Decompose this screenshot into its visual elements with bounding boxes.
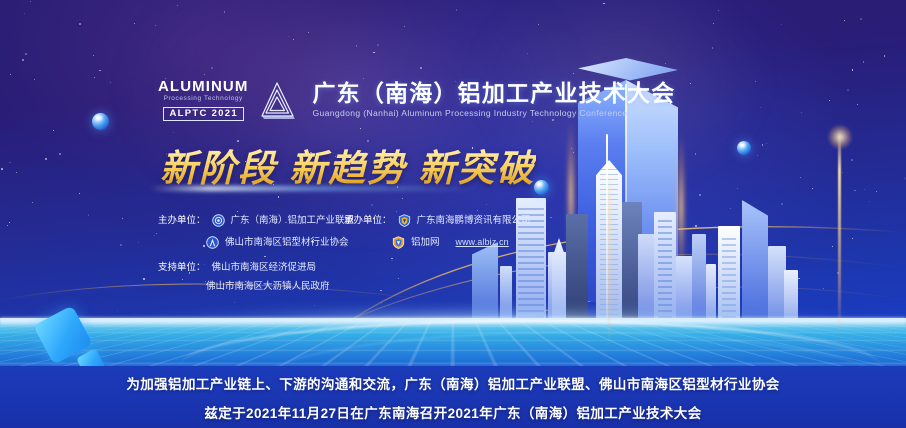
sphere-top-left (92, 113, 109, 130)
announcement-line-1: 为加强铝加工产业链上、下游的沟通和交流，广东（南海）铝加工产业联盟、佛山市南海区… (126, 373, 779, 393)
shield-blue-icon (398, 214, 411, 227)
albiz-website-link[interactable]: www.albiz.cn (456, 238, 509, 247)
undertaker-row-2: 铝加网 www.albiz.cn (344, 236, 531, 249)
conference-titles: 广东（南海）铝加工产业技术大会 Guangdong (Nanhai) Alumi… (312, 81, 675, 119)
light-beam-center (608, 170, 611, 350)
sphere-right (737, 141, 751, 155)
sphere-mid-left (534, 180, 549, 195)
alptc-logo-wordmark: ALUMINUM Processing Technology ALPTC 202… (158, 79, 248, 121)
support-label: 支持单位： (158, 263, 206, 273)
support-row-1: 支持单位： 佛山市南海区经济促进局 (158, 263, 488, 273)
light-beam-right (838, 128, 841, 338)
host-label: 主办单位： (158, 216, 206, 226)
support-name-2: 佛山市南海区大沥镇人民政府 (206, 282, 330, 292)
conference-title-cn: 广东（南海）铝加工产业技术大会 (312, 81, 675, 106)
host-name-1: 广东（南海）铝加工产业联盟 (231, 216, 355, 226)
organizer-block-right: 承办单位： 广东南海鹏博资讯有限公司 铝加网 www.albiz.cn (344, 214, 531, 249)
undertaker-label: 承办单位： (344, 216, 392, 226)
host-name-2: 佛山市南海区铝型材行业协会 (225, 238, 349, 248)
circle-target-badge-icon (212, 214, 225, 227)
undertaker-name-1: 广东南海鹏博资讯有限公司 (417, 216, 531, 226)
undertaker-name-2: 铝加网 (411, 238, 440, 248)
conference-logo-header: ALUMINUM Processing Technology ALPTC 202… (158, 78, 675, 122)
circle-letter-a-badge-icon (206, 236, 219, 249)
support-block: 支持单位： 佛山市南海区经济促进局 佛山市南海区大沥镇人民政府 (158, 263, 488, 291)
support-row-2: 佛山市南海区大沥镇人民政府 (158, 282, 488, 292)
conference-poster: ALUMINUM Processing Technology ALPTC 202… (0, 0, 906, 428)
announcement-band: 为加强铝加工产业链上、下游的沟通和交流，广东（南海）铝加工产业联盟、佛山市南海区… (0, 366, 906, 428)
support-name-1: 佛山市南海区经济促进局 (212, 263, 317, 273)
light-beam-right-head (827, 124, 853, 150)
logo-alptc-year-badge: ALPTC 2021 (163, 107, 244, 122)
logo-aluminum-text: ALUMINUM (158, 79, 248, 94)
undertaker-row-1: 承办单位： 广东南海鹏博资讯有限公司 (344, 214, 531, 227)
announcement-line-2: 兹定于2021年11月27日在广东南海召开2021年广东（南海）铝加工产业技术大… (204, 402, 701, 422)
aluminum-triangle-mark-icon (258, 78, 298, 122)
slogan-headline: 新阶段 新趋势 新突破 (160, 138, 536, 192)
logo-processing-technology-text: Processing Technology (164, 96, 243, 103)
slogan-underglow (150, 186, 480, 191)
conference-title-en: Guangdong (Nanhai) Aluminum Processing I… (312, 109, 675, 118)
shield-gold-icon (392, 236, 405, 249)
